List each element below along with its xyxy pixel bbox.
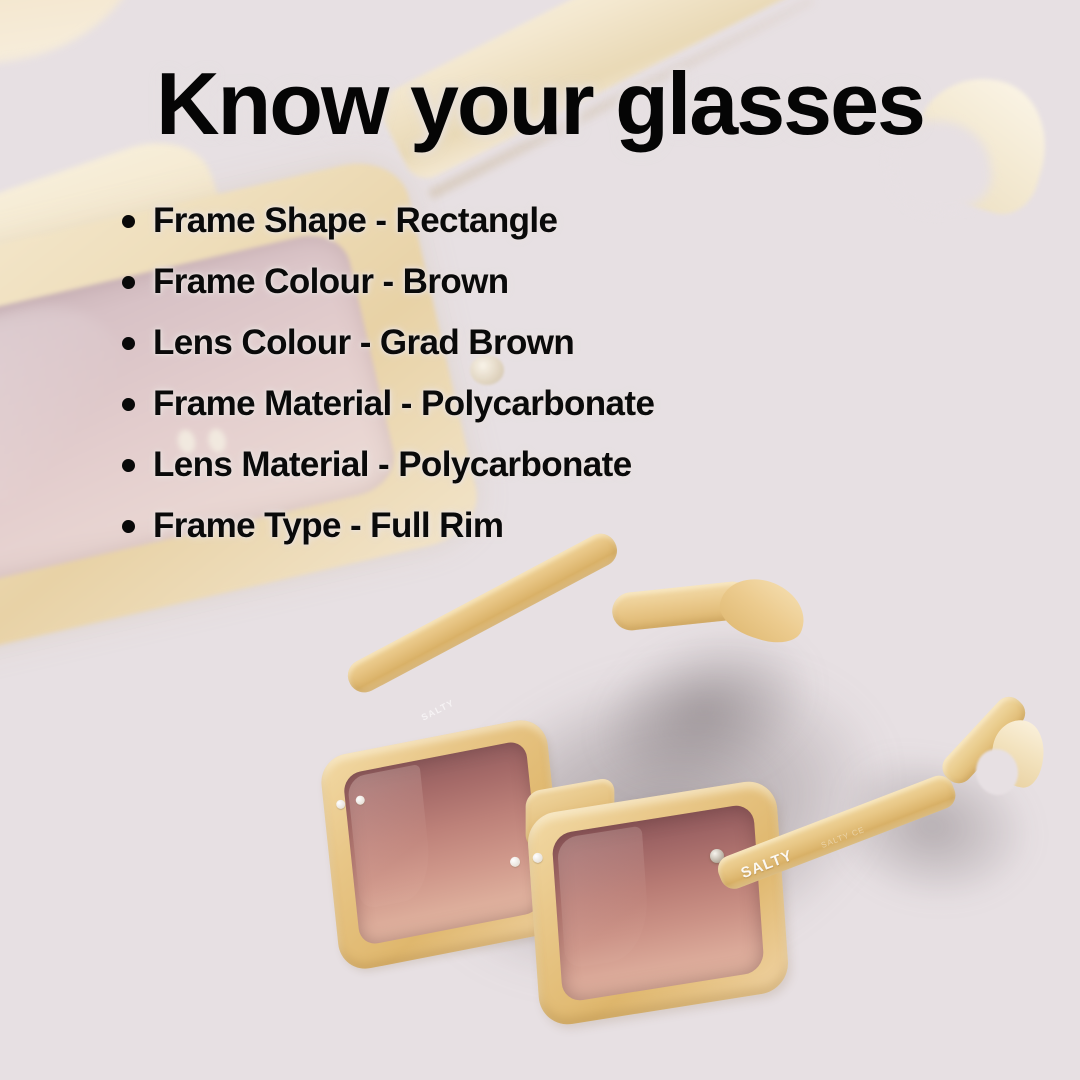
product-sunglasses: SALTY SALTY SALTY CE	[300, 615, 1040, 1035]
rivet-icon	[335, 799, 346, 810]
spec-text: Frame Shape - Rectangle	[153, 201, 557, 241]
bullet-icon	[122, 337, 135, 350]
list-item: Frame Shape - Rectangle	[113, 190, 654, 251]
right-lens-sheen	[557, 826, 651, 970]
bullet-icon	[122, 398, 135, 411]
poster-canvas: Know your glasses Frame Shape - Rectangl…	[0, 0, 1080, 1080]
spec-text: Frame Type - Full Rim	[153, 506, 503, 546]
spec-text: Frame Colour - Brown	[153, 262, 509, 302]
rivet-icon	[509, 856, 521, 868]
bullet-icon	[122, 215, 135, 228]
right-lens	[551, 803, 764, 1003]
right-lens-rim	[526, 777, 790, 1029]
left-lens-sheen	[347, 764, 433, 910]
list-item: Frame Material - Polycarbonate	[113, 373, 654, 434]
spec-text: Lens Colour - Grad Brown	[153, 323, 574, 363]
page-title: Know your glasses	[0, 57, 1080, 150]
list-item: Frame Colour - Brown	[113, 251, 654, 312]
rivet-icon	[355, 795, 366, 806]
bullet-icon	[122, 276, 135, 289]
spec-list: Frame Shape - Rectangle Frame Colour - B…	[113, 190, 654, 556]
spec-text: Frame Material - Polycarbonate	[153, 384, 654, 424]
spec-text: Lens Material - Polycarbonate	[153, 445, 632, 485]
left-lens	[343, 739, 544, 946]
bullet-icon	[122, 459, 135, 472]
list-item: Lens Material - Polycarbonate	[113, 434, 654, 495]
bullet-icon	[122, 520, 135, 533]
rivet-icon	[532, 852, 544, 864]
list-item: Lens Colour - Grad Brown	[113, 312, 654, 373]
